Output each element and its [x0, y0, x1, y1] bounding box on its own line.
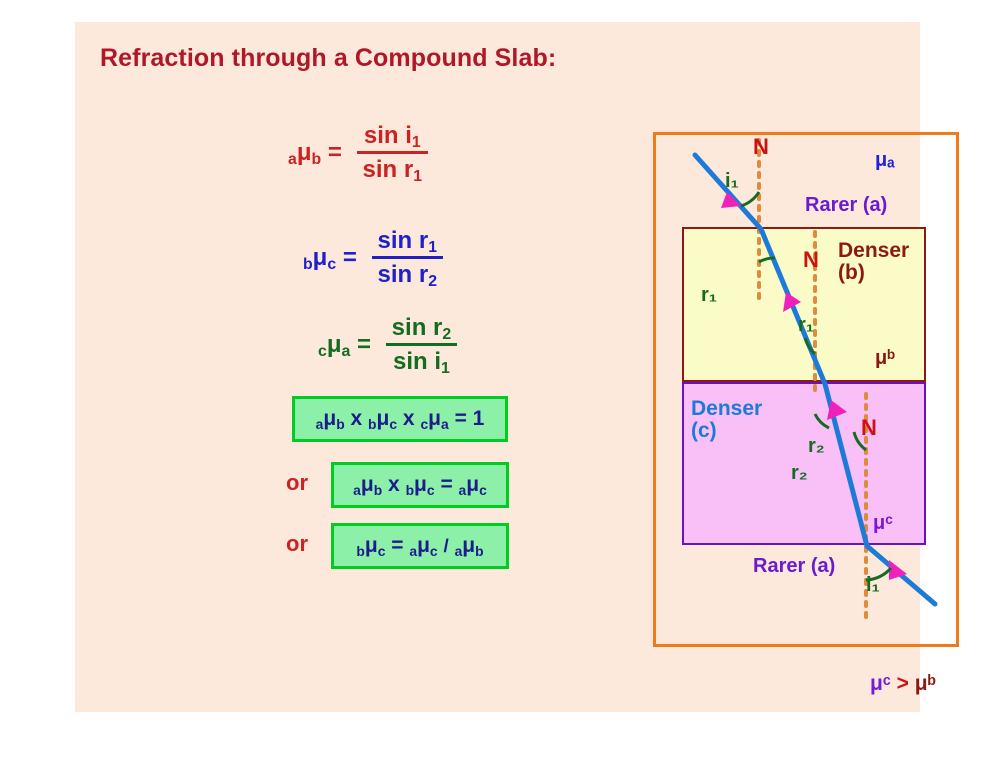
angle-arc-i1-top — [741, 192, 759, 206]
label-normal-middle: N — [803, 247, 819, 273]
equation-a-mu-b: aμb = sin i1 sin r1 — [288, 122, 428, 184]
label-denser-c: Denser (c) — [691, 398, 762, 442]
equation-2-den-text: sin r — [378, 261, 429, 288]
equation-2-equals: = — [343, 244, 357, 271]
or-label-1: or — [286, 470, 308, 496]
equation-3-num-text: sin r — [392, 314, 443, 341]
label-normal-top: N — [753, 134, 769, 160]
equation-2-num-sub: 1 — [428, 239, 437, 256]
label-denser-c-line2: (c) — [691, 419, 717, 442]
boxed-product-text: aμb x bμc x cμa = 1 — [316, 407, 485, 431]
equation-2-num-text: sin r — [378, 227, 429, 254]
equation-2-sub: c — [327, 256, 336, 273]
or-label-2: or — [286, 531, 308, 557]
equation-2-den-sub: 2 — [428, 273, 437, 290]
equation-1-fraction: sin i1 sin r1 — [357, 122, 429, 184]
boxed-equation-ratio: bμc = aμc / aμb — [331, 523, 509, 569]
equation-3-fraction: sin r2 sin i1 — [386, 314, 458, 376]
equation-1-num-sub: 1 — [412, 134, 421, 151]
label-mu-c: μᶜ — [873, 512, 893, 535]
label-mu-a: μₐ — [875, 149, 895, 172]
label-refraction-angle-r2-lower: r₂ — [791, 462, 808, 485]
label-denser-c-line1: Denser — [691, 397, 762, 420]
page-title: Refraction through a Compound Slab: — [100, 44, 556, 73]
slide-panel: Refraction through a Compound Slab: aμb … — [75, 22, 920, 712]
equation-3-equals: = — [357, 331, 371, 358]
ray-diagram: N i₁ μₐ Rarer (a) N Denser (b) r₁ r₁ μᵇ … — [653, 132, 959, 647]
equation-3-denominator: sin i1 — [386, 346, 458, 376]
equation-1-den-sub: 1 — [413, 168, 422, 185]
label-refraction-angle-r1-lower: r₁ — [798, 314, 814, 337]
equation-3-presub: c — [318, 343, 327, 360]
boxed-relation-text: aμb x bμc = aμc — [353, 473, 487, 497]
boxed-equation-product: aμb x bμc x cμa = 1 — [292, 396, 508, 442]
equation-1-mu: μ — [297, 139, 312, 166]
equation-2-lhs: bμc = — [303, 244, 357, 272]
comparison-left: μᶜ — [870, 672, 891, 695]
label-refraction-angle-r2-upper: r₂ — [808, 435, 825, 458]
equation-c-mu-a: cμa = sin r2 sin i1 — [318, 314, 457, 376]
equation-3-numerator: sin r2 — [386, 314, 458, 343]
label-mu-b: μᵇ — [875, 347, 895, 370]
label-refraction-angle-r1-upper: r₁ — [701, 284, 717, 307]
comparison-right: μᵇ — [915, 672, 936, 695]
label-denser-b-line1: Denser — [838, 239, 909, 262]
equation-1-denominator: sin r1 — [357, 154, 429, 184]
label-incident-angle-top: i₁ — [725, 170, 739, 193]
equation-1-numerator: sin i1 — [357, 122, 429, 151]
comparison-operator: > — [897, 672, 909, 695]
label-emergent-angle: i₁ — [866, 574, 880, 597]
equation-1-den-text: sin r — [363, 156, 414, 183]
equation-3-mu: μ — [327, 331, 342, 358]
equation-3-den-text: sin i — [393, 348, 441, 375]
equation-b-mu-c: bμc = sin r1 sin r2 — [303, 227, 443, 289]
equation-1-equals: = — [328, 139, 342, 166]
equation-1-lhs: aμb = — [288, 139, 342, 167]
equation-3-sub: a — [342, 343, 351, 360]
label-refractive-index-comparison: μᶜ > μᵇ — [870, 672, 936, 696]
equation-2-numerator: sin r1 — [372, 227, 444, 256]
boxed-equation-relation: aμb x bμc = aμc — [331, 462, 509, 508]
label-rarer-bottom: Rarer (a) — [753, 555, 835, 578]
equation-2-mu: μ — [313, 244, 328, 271]
equation-3-lhs: cμa = — [318, 331, 371, 359]
label-denser-b-line2: (b) — [838, 261, 865, 284]
equation-1-presub: a — [288, 151, 297, 168]
equation-3-den-sub: 1 — [441, 360, 450, 377]
equation-2-fraction: sin r1 sin r2 — [372, 227, 444, 289]
equation-1-sub: b — [312, 151, 322, 168]
boxed-ratio-text: bμc = aμc / aμb — [356, 534, 483, 558]
equation-3-num-sub: 2 — [442, 326, 451, 343]
equation-1-num-text: sin i — [364, 122, 412, 149]
equation-2-denominator: sin r2 — [372, 259, 444, 289]
equation-2-presub: b — [303, 256, 313, 273]
label-rarer-top: Rarer (a) — [805, 194, 887, 217]
angle-arc-r2-upper — [815, 414, 829, 428]
label-denser-b: Denser (b) — [838, 240, 909, 284]
label-normal-bottom: N — [861, 415, 877, 441]
